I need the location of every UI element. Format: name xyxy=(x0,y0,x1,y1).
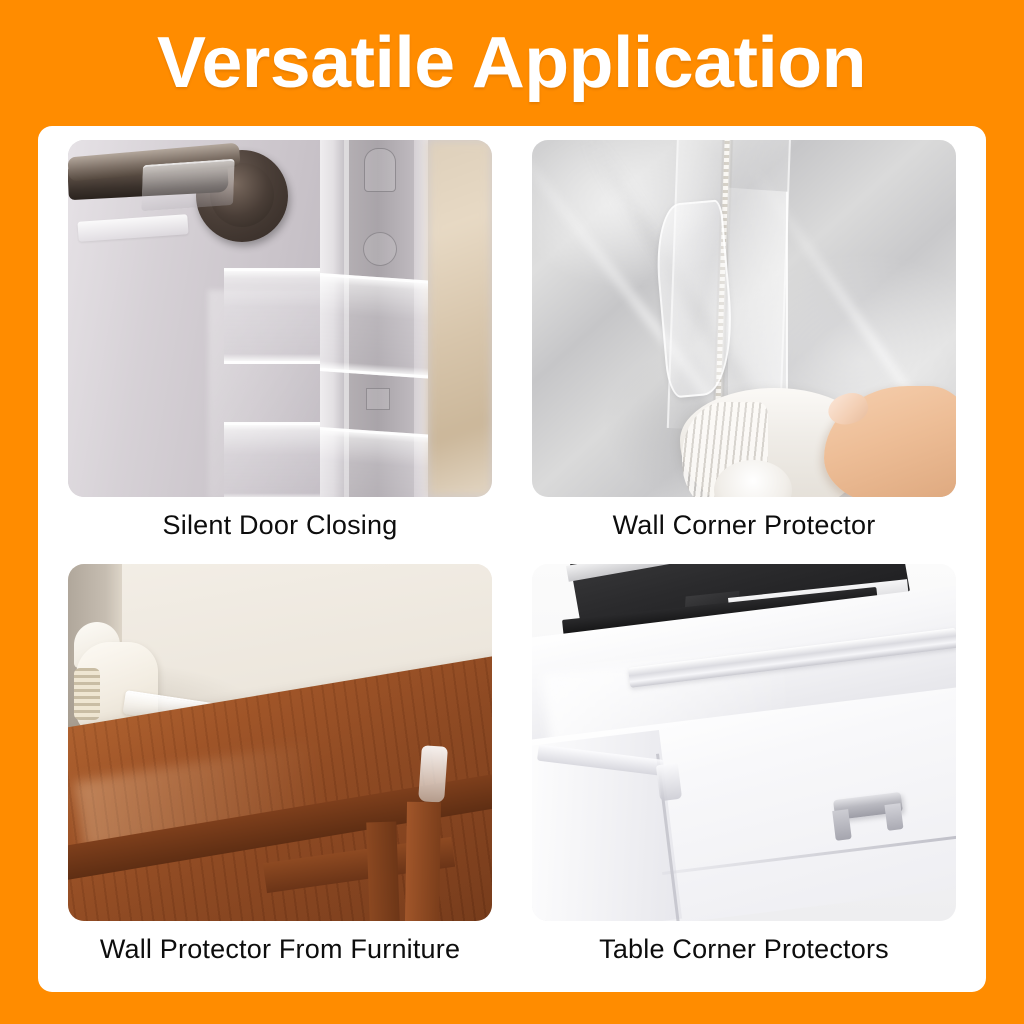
background-room-blur xyxy=(428,140,492,497)
jamb-circle-icon xyxy=(363,232,397,266)
caption-silent-door-closing: Silent Door Closing xyxy=(68,497,492,554)
caption-wall-protector-from-furniture: Wall Protector From Furniture xyxy=(68,921,492,978)
photo-wall-corner-protector xyxy=(532,140,956,497)
jamb-square-icon xyxy=(366,388,390,410)
cabinet-protector-corner-cap xyxy=(656,763,682,801)
photo-wall-protector-from-furniture xyxy=(68,564,492,921)
strike-plate-icon xyxy=(364,148,396,192)
content-panel: Silent Door Closing xyxy=(38,126,986,992)
lever-protector-sleeve xyxy=(141,159,234,212)
table-leg-rear xyxy=(366,822,399,921)
table-leg-front xyxy=(405,802,441,921)
caption-wall-corner-protector: Wall Corner Protector xyxy=(532,497,956,554)
photo-silent-door-closing xyxy=(68,140,492,497)
drawer-handle-leg-right xyxy=(884,803,903,831)
corner-protector-lower-left xyxy=(224,422,320,497)
page-title: Versatile Application xyxy=(158,27,867,99)
feature-tile-silent-door-closing: Silent Door Closing xyxy=(68,140,492,554)
feature-tile-table-corner-protectors: Table Corner Protectors xyxy=(532,564,956,978)
feature-tile-wall-protector-from-furniture: Wall Protector From Furniture xyxy=(68,564,492,978)
appliance-grille xyxy=(74,668,100,720)
feature-tile-wall-corner-protector: Wall Corner Protector xyxy=(532,140,956,554)
title-bar: Versatile Application xyxy=(0,0,1024,126)
corner-protector-upper-right xyxy=(320,273,428,379)
caption-table-corner-protectors: Table Corner Protectors xyxy=(532,921,956,978)
photo-table-corner-protectors xyxy=(532,564,956,921)
feature-grid: Silent Door Closing xyxy=(68,140,956,978)
protector-corner-cap xyxy=(418,745,448,803)
corner-protector-upper-left xyxy=(224,268,320,364)
corner-protector-lower-right xyxy=(320,427,428,497)
infographic-root: Versatile Application xyxy=(0,0,1024,1024)
